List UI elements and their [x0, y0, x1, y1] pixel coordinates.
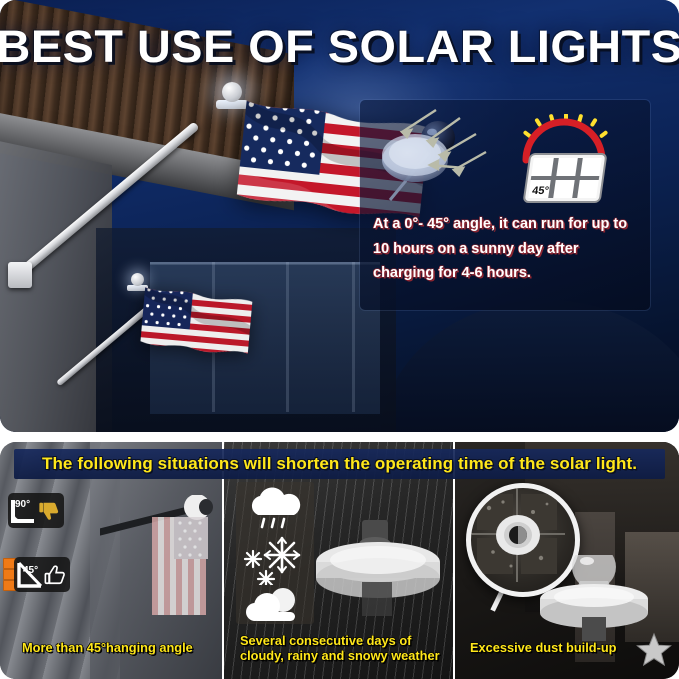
patio-frame-top: [150, 262, 380, 265]
angle-90-label: 90°: [15, 499, 30, 510]
panel-2-caption-line2: cloudy, rainy and snowy weather: [240, 648, 440, 663]
angle-45-badge: 45°: [14, 557, 70, 592]
angle-45-icon: 45°: [14, 560, 42, 590]
flagpole-mount-bracket: [8, 262, 32, 288]
patio-frame-v2: [286, 262, 289, 412]
panel-2-caption: Several consecutive days of cloudy, rain…: [240, 633, 440, 663]
cloud-icon: [243, 586, 307, 622]
solar-light-finial-large: [222, 82, 242, 102]
top-hero-section: BEST USE OF SOLAR LIGHTS: [0, 0, 679, 432]
flag-horizontal-icon: [100, 495, 220, 625]
star-icon: [636, 632, 672, 668]
warning-banner-text: The following situations will shorten th…: [42, 454, 637, 474]
angle-45-label: 45°: [23, 565, 38, 576]
angle-90-icon: 90°: [8, 496, 36, 526]
infographic-root: BEST USE OF SOLAR LIGHTS: [0, 0, 679, 679]
rain-cloud-icon: [242, 487, 308, 531]
panel-3-caption: Excessive dust build-up: [470, 640, 617, 655]
info-panel-text: At a 0°- 45° angle, it can run for up to…: [373, 212, 643, 286]
solar-light-finial-small: [131, 273, 144, 286]
panel-angle-label: 45°: [531, 185, 549, 197]
solar-light-icon: [300, 520, 460, 620]
thumbs-up-icon: [44, 564, 66, 586]
american-flag-small: [137, 283, 255, 368]
panel-2-caption-line1: Several consecutive days of: [240, 633, 440, 648]
page-title: BEST USE OF SOLAR LIGHTS: [0, 20, 679, 74]
thumbs-down-icon: [38, 500, 60, 522]
solar-light-finial-icon: [538, 555, 678, 641]
panel-1-caption: More than 45°hanging angle: [22, 640, 193, 655]
angle-90-badge: 90°: [8, 493, 64, 528]
solar-panel-icon: 45°: [500, 114, 620, 208]
sunlight-arrows-icon: [368, 108, 493, 203]
info-panel: 45° At a 0°- 45° angle, it can run for u…: [360, 100, 650, 310]
warning-banner: The following situations will shorten th…: [14, 449, 665, 479]
patio-frame-v3: [352, 262, 355, 412]
